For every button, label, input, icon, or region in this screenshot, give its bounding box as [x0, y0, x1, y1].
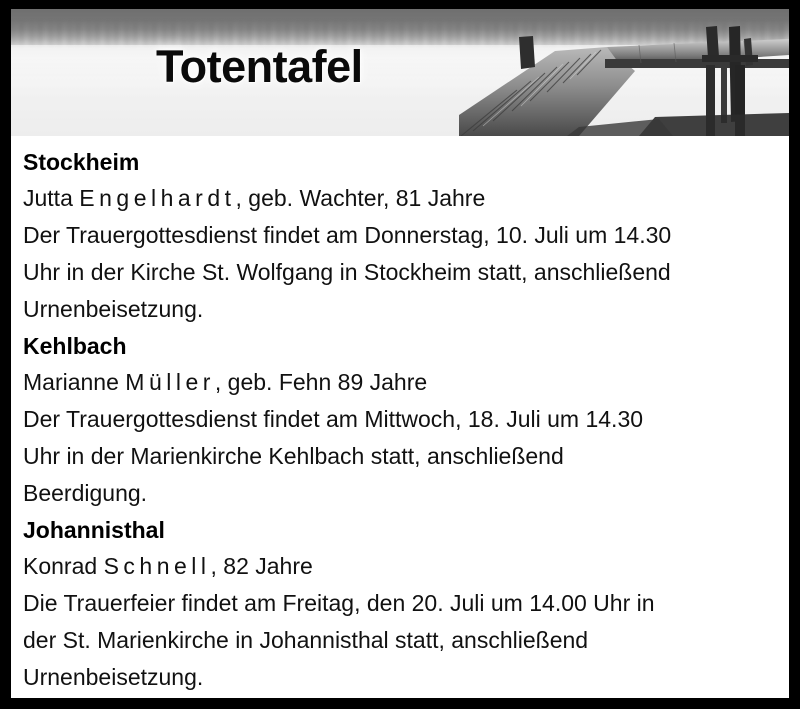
entry-service-line: Beerdigung. — [23, 475, 777, 512]
deceased-details: , geb. Fehn 89 Jahre — [215, 369, 427, 395]
obituary-entry: Stockheim Jutta Engelhardt, geb. Wachter… — [23, 144, 777, 328]
entry-place: Kehlbach — [23, 328, 777, 364]
obituary-entry: Kehlbach Marianne Müller, geb. Fehn 89 J… — [23, 328, 777, 512]
pier-photo-icon — [459, 9, 789, 136]
page-frame: Totentafel Stockheim Jutta Engelhardt, g… — [0, 0, 800, 709]
deceased-surname: Müller — [125, 369, 215, 395]
entry-deceased-line: Marianne Müller, geb. Fehn 89 Jahre — [23, 364, 777, 401]
entry-service-line: Uhr in der Marienkirche Kehlbach statt, … — [23, 438, 777, 475]
entry-service-line: der St. Marienkirche in Johannisthal sta… — [23, 622, 777, 659]
obituary-entry: Johannisthal Konrad Schnell, 82 Jahre Di… — [23, 512, 777, 696]
page-title: Totentafel — [156, 41, 363, 93]
deceased-surname: Schnell — [104, 553, 211, 579]
deceased-first-name: Marianne — [23, 369, 119, 395]
entry-place: Stockheim — [23, 144, 777, 180]
entry-service-line: Der Trauergottesdienst findet am Donners… — [23, 217, 777, 254]
deceased-surname: Engelhardt — [79, 185, 235, 211]
deceased-details: , 82 Jahre — [211, 553, 313, 579]
obituary-list: Stockheim Jutta Engelhardt, geb. Wachter… — [11, 136, 789, 698]
deceased-first-name: Konrad — [23, 553, 97, 579]
entry-place: Johannisthal — [23, 512, 777, 548]
entry-service-line: Urnenbeisetzung. — [23, 291, 777, 328]
entry-deceased-line: Jutta Engelhardt, geb. Wachter, 81 Jahre — [23, 180, 777, 217]
banner: Totentafel — [11, 9, 789, 136]
entry-service-line: Uhr in der Kirche St. Wolfgang in Stockh… — [23, 254, 777, 291]
deceased-first-name: Jutta — [23, 185, 73, 211]
entry-service-line: Der Trauergottesdienst findet am Mittwoc… — [23, 401, 777, 438]
deceased-details: , geb. Wachter, 81 Jahre — [236, 185, 486, 211]
entry-service-line: Urnenbeisetzung. — [23, 659, 777, 696]
entry-service-line: Die Trauerfeier findet am Freitag, den 2… — [23, 585, 777, 622]
entry-deceased-line: Konrad Schnell, 82 Jahre — [23, 548, 777, 585]
obituary-sheet: Totentafel Stockheim Jutta Engelhardt, g… — [11, 9, 789, 698]
